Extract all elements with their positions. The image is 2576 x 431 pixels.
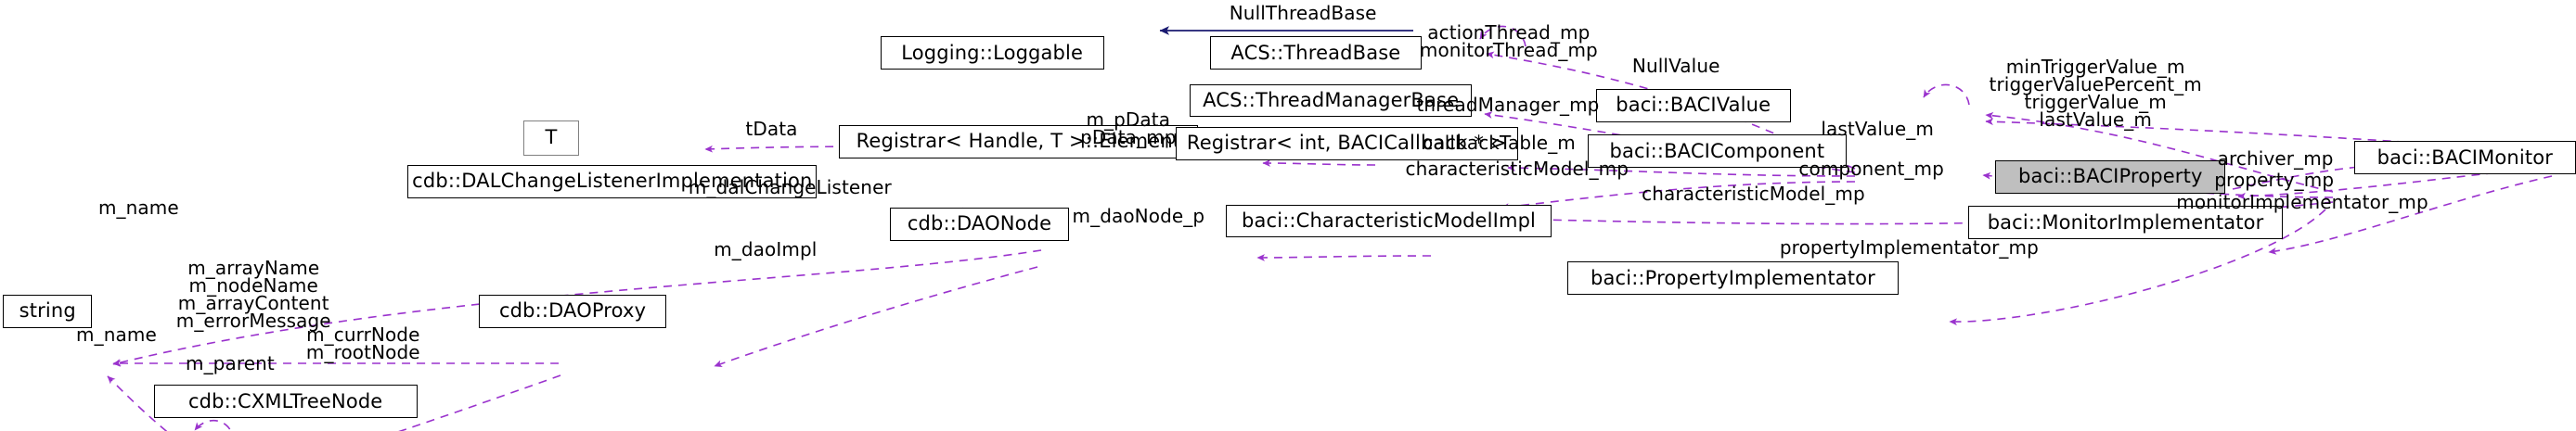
edge-nullvalue [1924,84,1969,105]
node-cdb-daoproxy[interactable]: cdb::DAOProxy [479,295,666,328]
node-cdb-cxmltreenode[interactable]: cdb::CXMLTreeNode [154,385,418,418]
edge-label-nullvalue: NullValue [1632,57,1720,75]
node-baci-bacivalue[interactable]: baci::BACIValue [1596,89,1791,122]
edge-daoimpl [715,267,1037,366]
node-cdb-daonode[interactable]: cdb::DAONode [890,208,1069,241]
collaboration-diagram-canvas: T string cdb::CXMLTreeNode cdb::DAOProxy… [0,0,2576,431]
edge-label-archiver-mp: archiver_mp [2218,150,2334,168]
edge-label-property-mp: property_mp [2214,171,2334,189]
edge-label-daoimpl: m_daoImpl [714,241,817,259]
edge-label-nullthreadbase: NullThreadBase [1230,5,1377,22]
edge-label-tdata: tData [745,120,797,138]
edge-mpdata [1263,163,1375,165]
edge-label-mname-bottom: m_name [76,326,157,344]
edge-label-threadmanager: threadManager_mp [1416,96,1599,114]
edge-mparent [195,421,235,431]
edge-label-lastvalue-m: lastValue_m [1821,120,1934,138]
node-baci-characteristicmodelimpl[interactable]: baci::CharacteristicModelImpl [1226,205,1551,238]
edge-label-dalchangelistener: m_dalChangeListener [689,179,892,196]
node-baci-propertyimplementator[interactable]: baci::PropertyImplementator [1567,261,1899,295]
node-logging-loggable[interactable]: Logging::Loggable [881,36,1104,70]
edge-label-actionthread: actionThread_mp monitorThread_mp [1420,24,1598,59]
edge-label-component-mp: component_mp [1798,160,1944,178]
edge-label-charmodel-2: characteristicModel_mp [1642,185,1865,203]
edge-label-propertyimplementator-mp: propertyImplementator_mp [1780,239,2039,257]
edge-label-proxy-fields: m_arrayName m_nodeName m_arrayContent m_… [176,260,331,330]
edge-daonode-p [1257,256,1431,258]
node-acs-threadbase[interactable]: ACS::ThreadBase [1210,36,1421,70]
edge-label-charmodel-1: characteristicModel_mp [1405,160,1629,178]
edge-label-monitorimplementator-mp: monitorImplementator_mp [2176,194,2428,211]
edge-label-mpdata: m_pData pData_mp [1080,111,1176,146]
node-t-template[interactable]: T [523,120,579,156]
node-baci-bacimonitor[interactable]: baci::BACIMonitor [2354,141,2576,174]
edge-label-mparent: m_parent [186,355,275,373]
edge-label-currnode: m_currNode m_rootNode [306,326,420,361]
edge-label-callbacktable: callbackTable_m [1423,134,1576,152]
edge-label-trigger-values: minTriggerValue_m triggerValuePercent_m … [1990,58,2202,129]
edge-label-daonode-p: m_daoNode_p [1073,208,1205,225]
node-baci-baciproperty[interactable]: baci::BACIProperty [1995,160,2225,194]
edge-label-mname-top: m_name [98,199,179,217]
